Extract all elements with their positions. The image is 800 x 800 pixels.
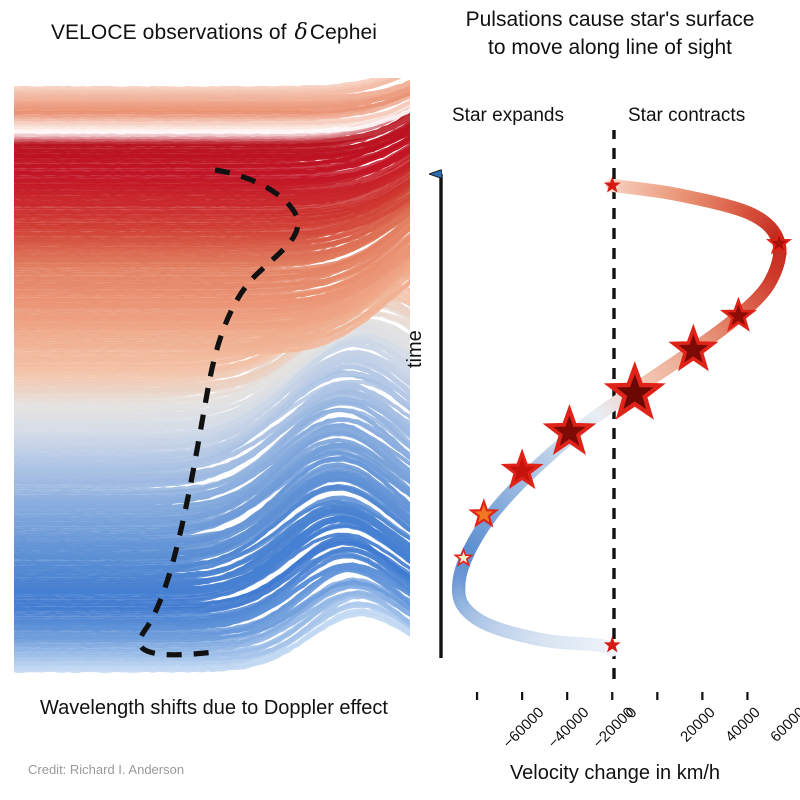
spectra-waterfall-plot — [14, 78, 410, 678]
left-panel-title-suffix: Cephei — [310, 21, 377, 44]
radial-velocity-ribbon — [459, 185, 780, 650]
star-markers-group — [455, 179, 789, 651]
star-expands-label: Star expands — [452, 105, 564, 127]
x-axis-tick-label: −40000 — [545, 704, 593, 752]
left-panel-caption: Wavelength shifts due to Doppler effect — [14, 697, 414, 720]
credit-text: Credit: Richard I. Anderson — [28, 762, 184, 777]
right-panel-title: Pulsations cause star's surface to move … — [420, 6, 800, 61]
right-panel-title-line2: to move along line of sight — [420, 34, 800, 62]
right-panel-title-line1: Pulsations cause star's surface — [420, 6, 800, 34]
x-axis-tick-label: 20000 — [678, 704, 720, 746]
velocity-axis-label: Velocity change in km/h — [430, 762, 800, 785]
figure-root: VELOCE observations of δCephei Pulsation… — [0, 0, 800, 800]
left-panel-title-prefix: VELOCE observations of — [51, 21, 293, 44]
x-axis-tick-label: 60000 — [768, 704, 800, 746]
left-panel-title: VELOCE observations of δCephei — [14, 20, 414, 45]
delta-symbol: δ — [293, 20, 310, 45]
velocity-curve-plot — [420, 130, 800, 700]
time-axis-label: time — [404, 330, 427, 368]
x-axis-tick-label: 40000 — [723, 704, 765, 746]
star-contracts-label: Star contracts — [628, 105, 745, 127]
x-axis-tick-label: −60000 — [500, 704, 548, 752]
x-axis-ticks — [477, 692, 747, 700]
